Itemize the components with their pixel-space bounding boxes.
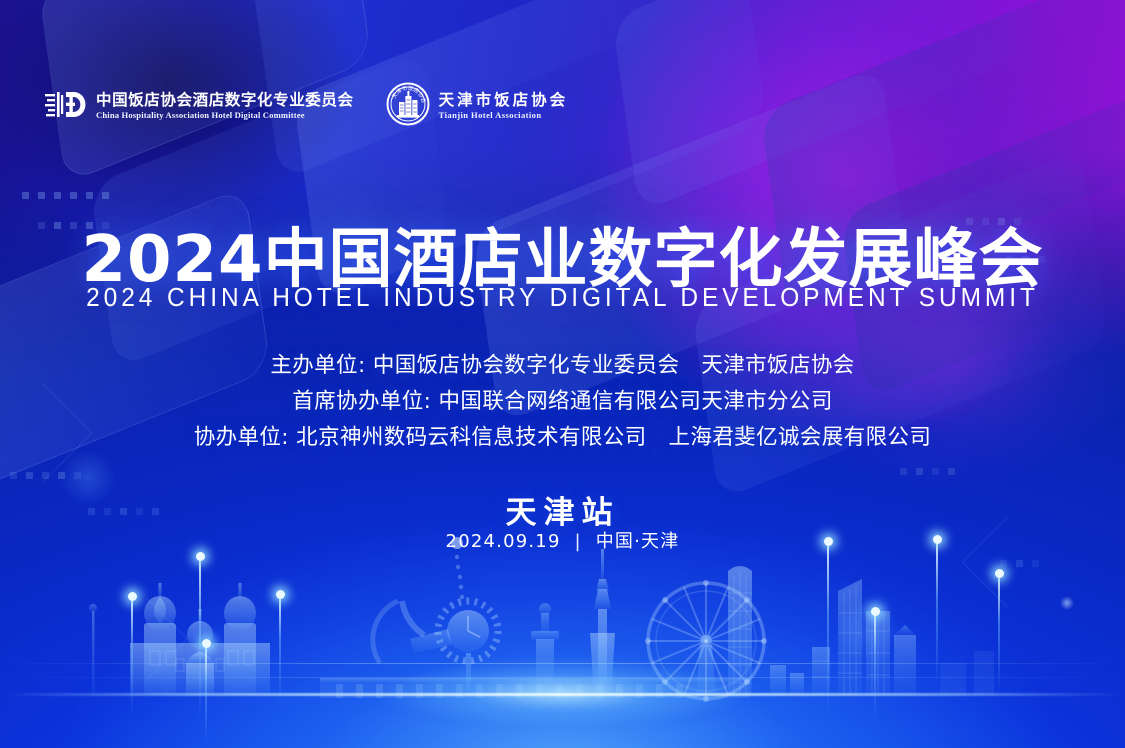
street-lamp-icon	[89, 604, 97, 695]
logo-china-hospitality-association: 中国饭店协会酒店数字化专业委员会 China Hospitality Assoc…	[45, 88, 354, 125]
event-datetime: 2024.09.19 | 中国·天津	[0, 527, 1125, 553]
cha-logo-text: 中国饭店协会酒店数字化专业委员会 China Hospitality Assoc…	[96, 93, 354, 120]
header-logos: 中国饭店协会酒店数字化专业委员会 China Hospitality Assoc…	[45, 82, 568, 131]
organizer-line: 协办单位: 北京神州数码云科信息技术有限公司 上海君斐亿诚会展有限公司	[0, 420, 1125, 456]
tianjin-logo-cn: 天津市饭店协会	[439, 93, 569, 109]
horizon-line	[0, 693, 1125, 696]
far-buildings-icon	[940, 651, 994, 695]
light-beam	[205, 642, 207, 742]
light-beam	[131, 595, 133, 715]
light-beam	[998, 572, 1000, 692]
event-location: 中国·天津	[596, 531, 680, 552]
tianjin-logo-text: 天津市饭店协会 Tianjin Hotel Association	[439, 93, 569, 120]
light-beam	[874, 610, 876, 720]
event-separator: |	[568, 531, 589, 552]
light-beam	[936, 538, 938, 688]
cha-monogram-icon	[45, 88, 87, 125]
logo-tianjin-hotel-association: 天津市饭店协会 天津市饭店协会 Tianjin Hotel Associatio…	[386, 82, 569, 131]
organizer-line: 首席协办单位: 中国联合网络通信有限公司天津市分公司	[0, 384, 1125, 420]
organizer-line: 主办单位: 中国饭店协会数字化专业委员会 天津市饭店协会	[0, 348, 1125, 384]
cha-logo-cn: 中国饭店协会酒店数字化专业委员会	[96, 93, 354, 109]
event-station: 天津站	[0, 487, 1125, 532]
main-title-en: 2024 CHINA HOTEL INDUSTRY DIGITAL DEVELO…	[34, 282, 1092, 313]
light-beam	[279, 593, 281, 703]
light-beam	[827, 540, 829, 715]
conference-banner: 中国饭店协会酒店数字化专业委员会 China Hospitality Assoc…	[0, 0, 1125, 748]
tianjin-emblem-icon: 天津市饭店协会	[386, 82, 430, 131]
cha-logo-en: China Hospitality Association Hotel Digi…	[96, 111, 354, 120]
event-date: 2024.09.19	[446, 531, 561, 552]
organizer-block: 主办单位: 中国饭店协会数字化专业委员会 天津市饭店协会 首席协办单位: 中国联…	[0, 348, 1125, 456]
tianjin-logo-en: Tianjin Hotel Association	[439, 111, 569, 120]
light-beam	[199, 555, 201, 720]
